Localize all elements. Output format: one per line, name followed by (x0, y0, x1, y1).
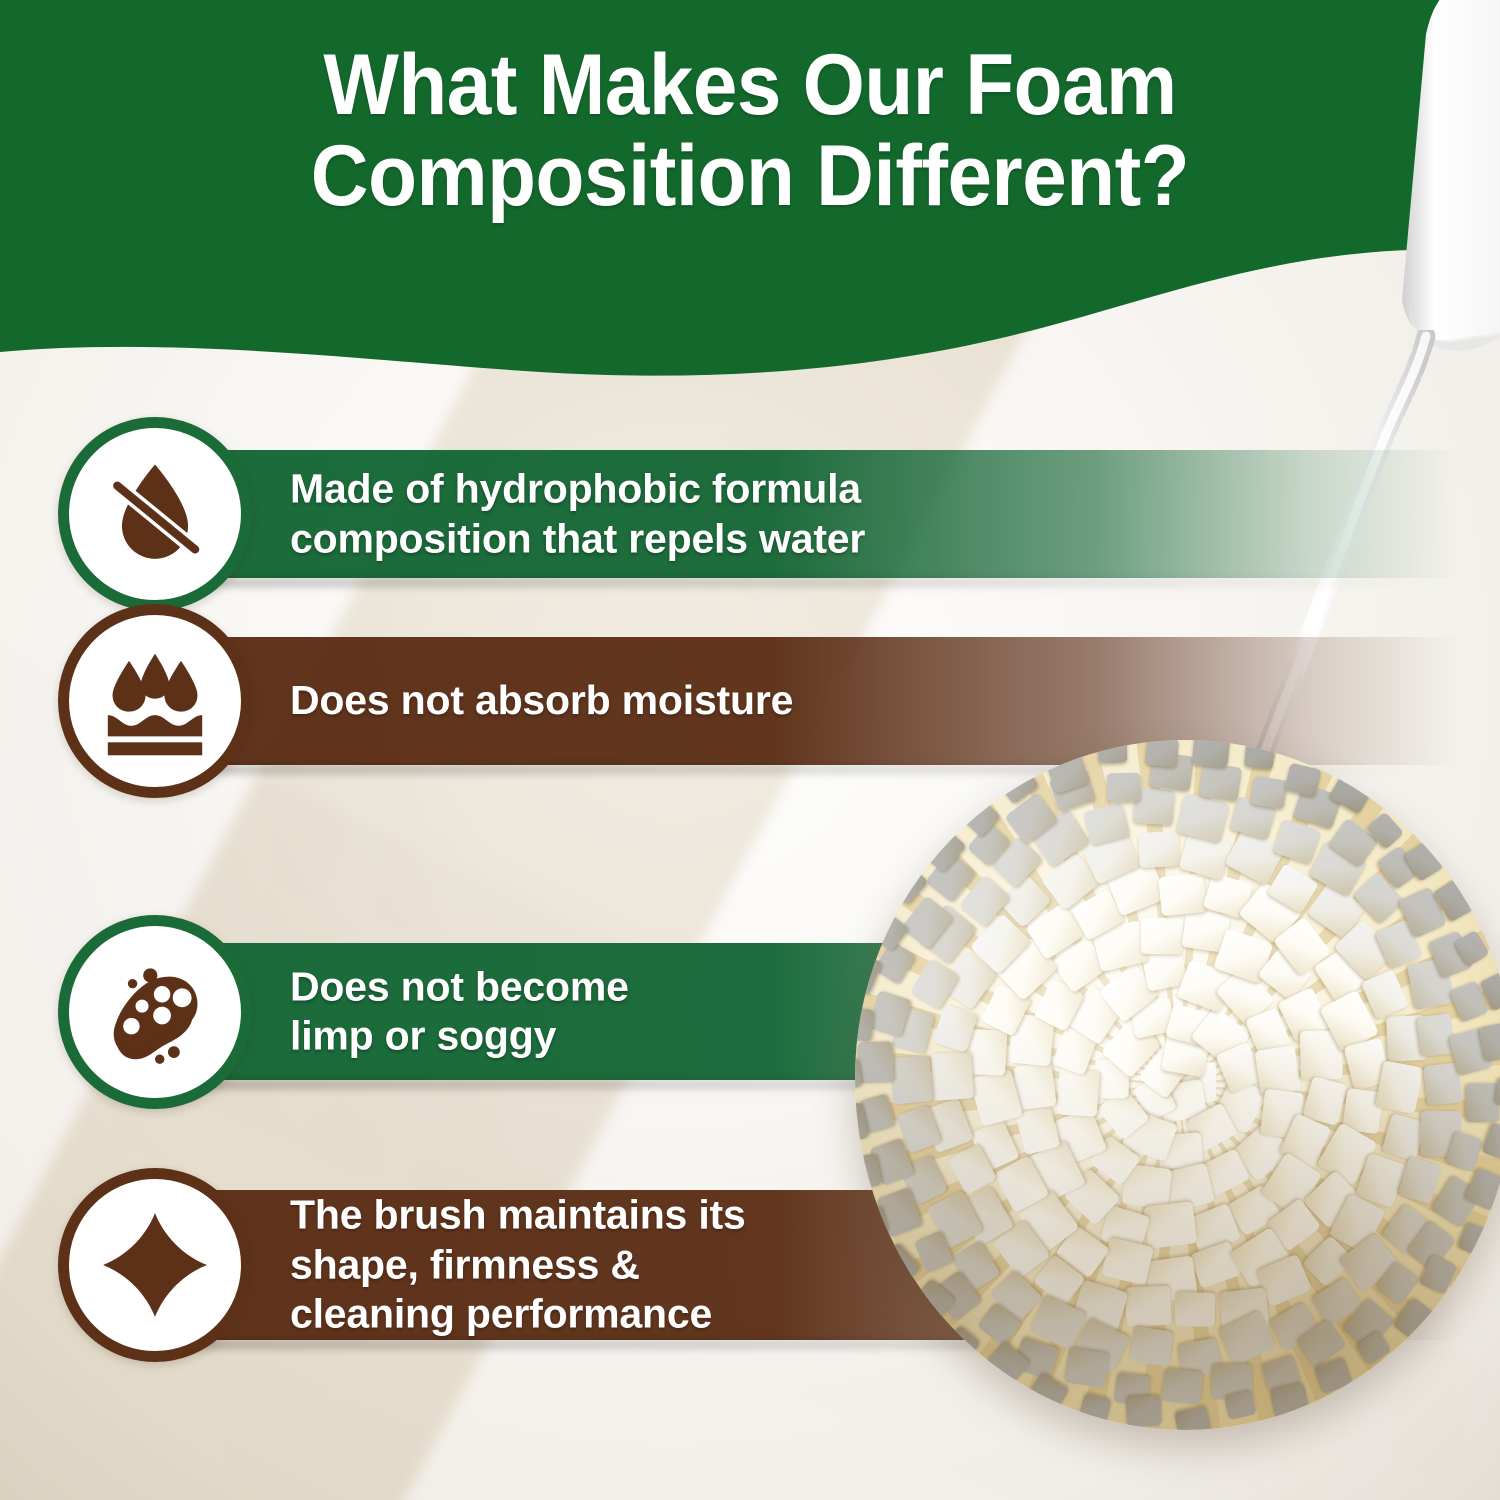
foam-cube (1097, 740, 1126, 763)
moisture-barrier-icon (96, 642, 214, 760)
sponge-icon (96, 953, 214, 1071)
feature-text-2: Does not absorb moisture (290, 676, 793, 726)
feature-text-3: Does not become limp or soggy (290, 962, 629, 1061)
feature-row-1: Made of hydrophobic formula composition … (0, 450, 1500, 578)
foam-cube (1250, 775, 1289, 810)
foam-cube (930, 1051, 973, 1100)
foam-cube (1255, 1045, 1301, 1097)
feature-badge-1 (58, 417, 252, 611)
foam-cube (855, 1008, 873, 1042)
header-banner: What Makes Our Foam Composition Differen… (0, 0, 1500, 380)
foam-cube (1199, 762, 1242, 801)
foam-cube (966, 1029, 1007, 1076)
water-drop-slash-icon (96, 455, 214, 573)
feature-text-1: Made of hydrophobic formula composition … (290, 464, 865, 563)
foam-cube (857, 1041, 893, 1083)
foam-cube (1244, 742, 1275, 769)
foam-cube (1144, 740, 1179, 766)
foam-cube (1013, 1062, 1056, 1110)
foam-cube (1128, 1326, 1173, 1367)
foam-cube (1143, 1202, 1197, 1250)
diamond-icon (96, 1206, 214, 1324)
foam-cube (1375, 1061, 1423, 1114)
feature-text-4: The brush maintains its shape, firmness … (290, 1191, 746, 1340)
infographic-canvas: What Makes Our Foam Composition Differen… (0, 0, 1500, 1500)
product-brush-ball (855, 740, 1500, 1440)
foam-cube (1416, 1013, 1455, 1057)
foam-cube (1141, 917, 1184, 954)
foam-cube (1158, 873, 1206, 916)
brush-ball-body (855, 740, 1500, 1430)
foam-cube (1191, 740, 1229, 767)
foam-cube (1125, 1287, 1171, 1327)
foam-cube (1138, 831, 1180, 868)
foam-cube (889, 1055, 932, 1104)
feature-badge-4 (58, 1168, 252, 1362)
feature-badge-2 (58, 604, 252, 798)
foam-cube (1161, 1368, 1203, 1405)
page-title: What Makes Our Foam Composition Differen… (53, 40, 1448, 222)
feature-badge-3 (58, 915, 252, 1109)
foam-cube (1175, 1292, 1215, 1327)
foam-cube (1057, 1068, 1100, 1116)
foam-cube (1063, 1347, 1109, 1388)
foam-cube (1106, 773, 1141, 803)
foam-cube (1126, 1395, 1162, 1427)
foam-cube (1466, 1083, 1499, 1122)
